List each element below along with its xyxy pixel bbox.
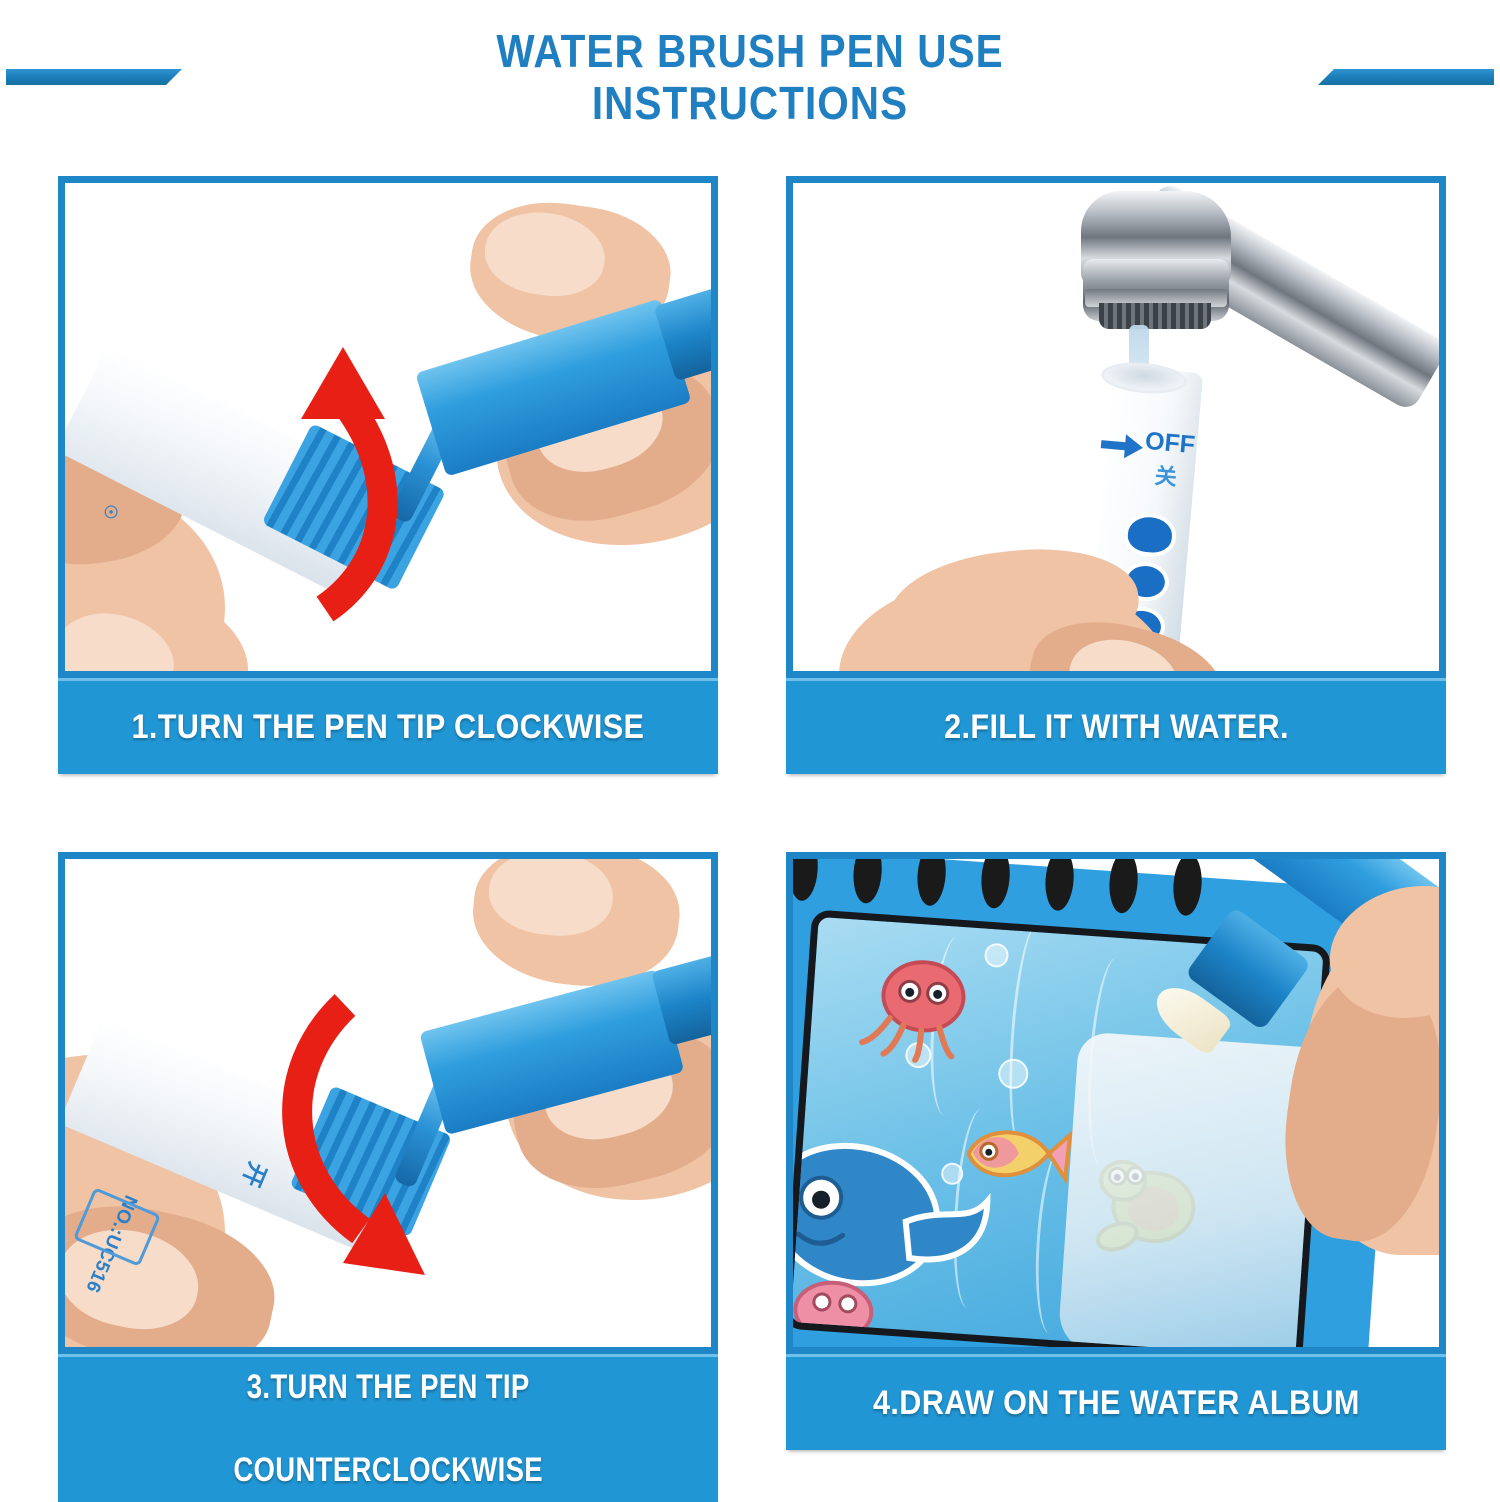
octopus-illustration: [847, 949, 983, 1073]
pen-off-arrow-icon: [1098, 429, 1146, 463]
coil: [1043, 852, 1075, 912]
instruction-step-1: ☉ 1.TURN THE PEN TIP CLOCKWISE: [58, 176, 718, 774]
step-3-caption-line-2: COUNTERCLOCKWISE: [233, 1450, 543, 1491]
page-header: WATER BRUSH PEN USE INSTRUCTIONS: [0, 0, 1500, 160]
step-3-caption-line-1: 3.TURN THE PEN TIP: [233, 1367, 543, 1408]
rotation-arrow-clockwise: [235, 333, 445, 633]
faucet-aerator-mesh: [1099, 303, 1211, 329]
instruction-step-3: NO.:UC516 开 3.TURN THE PEN TIP COUNTE: [58, 852, 718, 1502]
coil: [915, 852, 947, 907]
step-3-photo: NO.:UC516 开: [58, 852, 718, 1354]
step-2-illustration: OFF 关: [793, 183, 1439, 671]
tropical-fish-illustration: [950, 1109, 1076, 1206]
step-4-caption-text: 4.DRAW ON THE WATER ALBUM: [873, 1383, 1360, 1424]
rotation-arrow-counterclockwise: [259, 979, 479, 1289]
instruction-step-grid: ☉ 1.TURN THE PEN TIP CLOCKWISE: [58, 176, 1446, 1472]
page-title-line-1: WATER BRUSH PEN USE: [90, 26, 1410, 78]
step-3-illustration: NO.:UC516 开: [65, 859, 711, 1347]
page-title-line-2: INSTRUCTIONS: [90, 78, 1410, 130]
coil: [851, 852, 883, 904]
step-3-caption-text: 3.TURN THE PEN TIP COUNTERCLOCKWISE: [216, 1367, 560, 1491]
step-1-caption: 1.TURN THE PEN TIP CLOCKWISE: [58, 678, 718, 774]
wet-drawn-streak: [1057, 1031, 1329, 1354]
step-3-caption: 3.TURN THE PEN TIP COUNTERCLOCKWISE: [58, 1354, 718, 1502]
step-4-caption: 4.DRAW ON THE WATER ALBUM: [786, 1354, 1446, 1450]
pen-off-label: OFF: [1144, 427, 1196, 460]
coil: [1171, 853, 1203, 917]
pen-off-label-cn: 关: [1154, 458, 1179, 492]
step-1-illustration: ☉: [65, 183, 711, 671]
page-title: WATER BRUSH PEN USE INSTRUCTIONS: [0, 26, 1500, 129]
step-4-photo: [786, 852, 1446, 1354]
step-2-caption: 2.FILL IT WITH WATER.: [786, 678, 1446, 774]
instruction-step-4: 4.DRAW ON THE WATER ALBUM: [786, 852, 1446, 1450]
step-2-photo: OFF 关: [786, 176, 1446, 678]
step-1-photo: ☉: [58, 176, 718, 678]
step-2-caption-text: 2.FILL IT WITH WATER.: [944, 707, 1289, 748]
coil: [788, 852, 820, 902]
step-1-caption-text: 1.TURN THE PEN TIP CLOCKWISE: [132, 707, 645, 748]
step-4-illustration: [793, 859, 1439, 1347]
instruction-step-2: OFF 关 2.FILL IT WITH WATER.: [786, 176, 1446, 774]
coil: [979, 852, 1011, 909]
bubble: [984, 943, 1010, 969]
coil: [1107, 852, 1139, 914]
